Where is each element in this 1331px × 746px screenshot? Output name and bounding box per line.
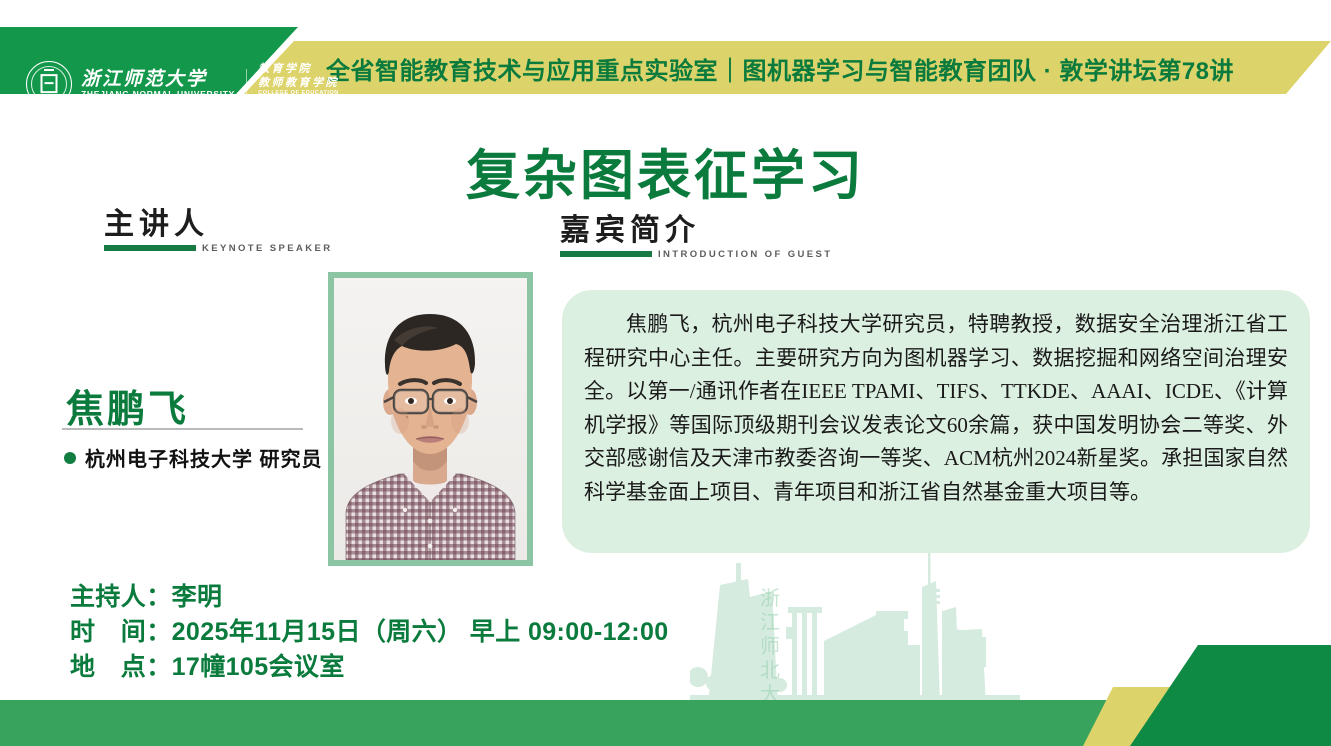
detail-row-place: 地 点：17幢105会议室 xyxy=(70,650,669,685)
seal-top-bar-icon xyxy=(44,69,54,71)
detail-row-host: 主持人：李明 xyxy=(70,580,669,615)
section-heading-speaker-cn: 主讲人 xyxy=(104,209,333,241)
university-seal-icon xyxy=(26,61,72,107)
section-heading-guest-en: INTRODUCTION OF GUEST xyxy=(658,249,832,260)
guest-bio-text: 焦鹏飞，杭州电子科技大学研究员，特聘教授，数据安全治理浙江省工程研究中心主任。主… xyxy=(584,308,1288,509)
speaker-name-rule xyxy=(62,428,303,430)
university-logo: 浙江师范大学 ZHEJIANG NORMAL UNIVERSITY 教育学院 教… xyxy=(26,61,371,107)
poster-canvas: 全省智能教育技术与应用重点实验室｜图机器学习与智能教育团队 · 敦学讲坛第78讲… xyxy=(0,0,1331,746)
logo-university-en: ZHEJIANG NORMAL UNIVERSITY xyxy=(81,90,235,99)
campus-skyline-watermark: 浙 江 师 北 大 xyxy=(690,545,1110,705)
svg-text:北: 北 xyxy=(760,659,780,682)
detail-label-place: 地 点： xyxy=(70,653,172,681)
speaker-portrait xyxy=(334,278,527,560)
logo-college-cn-2: 教师教育学院 xyxy=(258,77,371,90)
detail-label-time: 时 间： xyxy=(70,618,172,646)
guest-bio-box: 焦鹏飞，杭州电子科技大学研究员，特聘教授，数据安全治理浙江省工程研究中心主任。主… xyxy=(562,290,1310,553)
event-details: 主持人：李明 时 间：2025年11月15日（周六） 早上 09:00-12:0… xyxy=(70,580,669,685)
section-heading-speaker-en: KEYNOTE SPEAKER xyxy=(202,243,333,254)
seal-glyph-icon xyxy=(41,74,58,93)
logo-university-cn: 浙江师范大学 xyxy=(81,70,235,89)
detail-value-time: 2025年11月15日（周六） 早上 09:00-12:00 xyxy=(172,618,669,646)
logo-college-cn-1: 教育学院 xyxy=(258,63,371,76)
section-heading-guest-cn: 嘉宾简介 xyxy=(560,215,832,247)
logo-college-en-2: COLLEGE OF TEACHER EDUCATION xyxy=(258,98,371,105)
svg-text:浙: 浙 xyxy=(760,587,780,610)
header-banner-text: 全省智能教育技术与应用重点实验室｜图机器学习与智能教育团队 · 敦学讲坛第78讲 xyxy=(326,51,1234,86)
speaker-name: 焦鹏飞 xyxy=(66,378,189,433)
header-yellow-shape: 全省智能教育技术与应用重点实验室｜图机器学习与智能教育团队 · 敦学讲坛第78讲 xyxy=(244,41,1331,94)
bullet-dot-icon xyxy=(64,452,76,464)
section-heading-guest-bar xyxy=(560,251,652,257)
logo-college-text: 教育学院 教师教育学院 COLLEGE OF EDUCATION COLLEGE… xyxy=(258,63,371,105)
speaker-affiliation-text: 杭州电子科技大学 研究员 xyxy=(85,443,323,472)
svg-text:江: 江 xyxy=(760,611,780,634)
section-heading-speaker: 主讲人 KEYNOTE SPEAKER xyxy=(104,209,333,254)
logo-university-text: 浙江师范大学 ZHEJIANG NORMAL UNIVERSITY xyxy=(81,70,235,99)
speaker-photo-frame xyxy=(328,272,533,566)
detail-value-host: 李明 xyxy=(172,583,223,611)
detail-label-host: 主持人： xyxy=(70,583,172,611)
logo-divider xyxy=(246,69,247,99)
detail-row-time: 时 间：2025年11月15日（周六） 早上 09:00-12:00 xyxy=(70,615,669,650)
section-heading-speaker-bar xyxy=(104,245,196,251)
detail-value-place: 17幢105会议室 xyxy=(172,653,345,681)
section-heading-guest: 嘉宾简介 INTRODUCTION OF GUEST xyxy=(560,215,832,260)
svg-text:师: 师 xyxy=(760,635,780,658)
logo-college-en-1: COLLEGE OF EDUCATION xyxy=(258,90,371,97)
speaker-affiliation: 杭州电子科技大学 研究员 xyxy=(64,443,323,472)
header-band: 全省智能教育技术与应用重点实验室｜图机器学习与智能教育团队 · 敦学讲坛第78讲… xyxy=(0,27,1331,94)
page-title: 复杂图表征学习 xyxy=(0,131,1331,210)
